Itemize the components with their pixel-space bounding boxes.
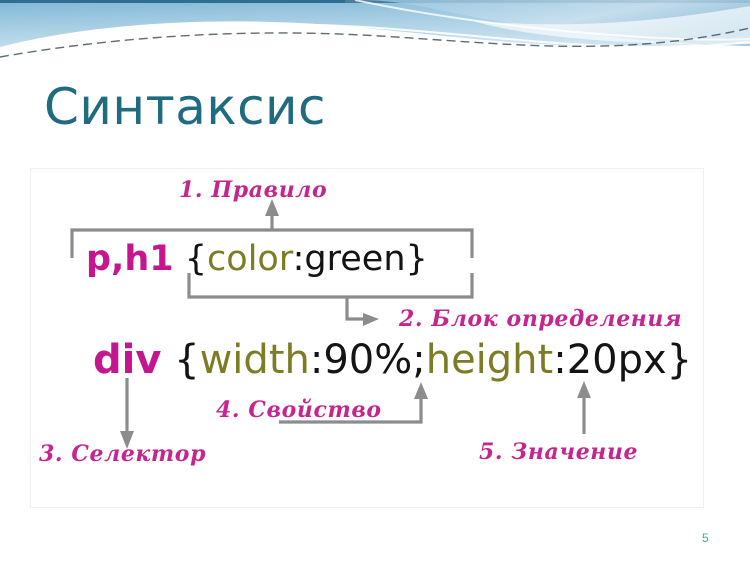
annotation-selector: 3. Селектор <box>39 441 206 467</box>
code-value-token: :green} <box>293 239 428 279</box>
code-open-brace: { <box>185 239 207 279</box>
annotation-value: 5. Значение <box>479 439 638 465</box>
code-property-token-height: height <box>426 337 554 383</box>
slide-number: 5 <box>702 531 709 545</box>
annotation-property: 4. Свойство <box>216 397 382 423</box>
code-line-rule: p,h1 {color:green} <box>86 239 428 279</box>
code-space <box>174 239 185 279</box>
code-open-brace-2: { <box>174 337 199 383</box>
arrow-up-value <box>577 381 591 398</box>
code-line-div: div {width:90%;height:20px} <box>93 337 692 383</box>
arrow-right-block <box>363 313 379 326</box>
page-title: Синтаксис <box>44 78 326 136</box>
code-selector-token-2: div <box>93 337 161 383</box>
header-decoration <box>0 0 750 72</box>
presentation-slide: Синтаксис <box>0 0 750 562</box>
code-property-token-width: width <box>200 337 310 383</box>
code-value-token-height: :20px} <box>553 337 692 383</box>
code-space-2 <box>161 337 174 383</box>
content-panel: p,h1 {color:green} div {width:90%;height… <box>30 168 704 508</box>
annotation-rule: 1. Правило <box>179 177 327 203</box>
arrow-up-property <box>414 382 428 399</box>
code-selector-token: p,h1 <box>86 239 174 279</box>
annotation-block: 2. Блок определения <box>399 306 682 332</box>
code-property-token: color <box>207 239 293 279</box>
code-value-token-width: :90%; <box>310 337 426 383</box>
